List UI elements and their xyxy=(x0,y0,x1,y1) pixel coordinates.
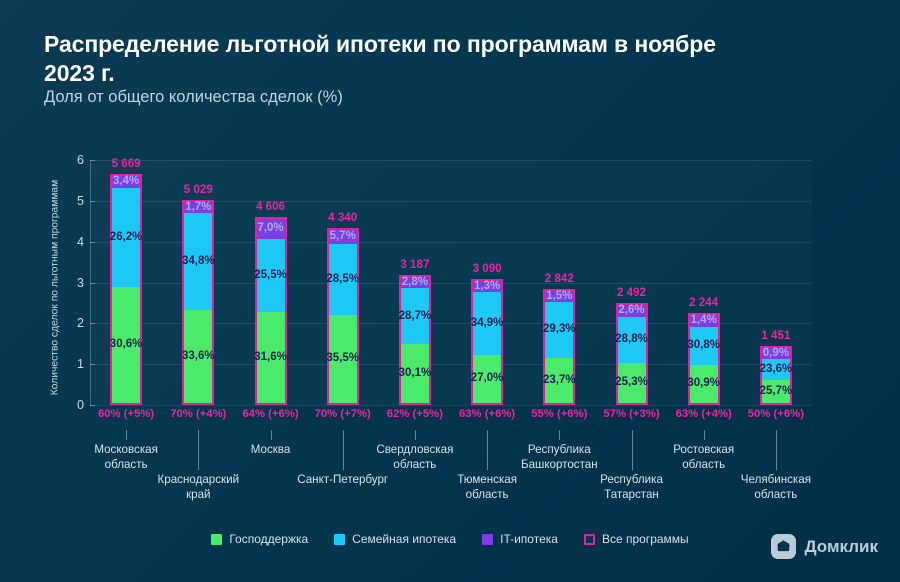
bar-segment-fam[interactable]: 34,8% xyxy=(184,213,212,310)
bar-segment-gos[interactable]: 30,6% xyxy=(112,287,140,403)
bar-total-label: 2 842 xyxy=(545,272,574,285)
bar-segment-label: 30,6% xyxy=(110,339,143,351)
bar-segment-it[interactable]: 1,7% xyxy=(184,202,212,214)
bar-segment-gos[interactable]: 27,0% xyxy=(473,355,501,403)
bar-segment-label: 30,9% xyxy=(687,378,720,390)
chart-legend: ГосподдержкаСемейная ипотекаIT-ипотекаВс… xyxy=(0,532,900,546)
bar-segment-it[interactable]: 2,8% xyxy=(401,277,429,289)
bar-segment-it[interactable]: 0,9% xyxy=(762,348,790,360)
bar-segment-label: 30,8% xyxy=(687,340,720,352)
bar-share-label: 63% (+4%) xyxy=(676,408,732,420)
bar-segment-gos[interactable]: 23,7% xyxy=(545,358,573,403)
chart-canvas: Распределение льготной ипотеки по програ… xyxy=(0,0,900,582)
bar-segment-label: 26,2% xyxy=(110,232,143,244)
x-axis-tick xyxy=(271,430,272,440)
bar-segment-it[interactable]: 5,7% xyxy=(329,230,357,244)
bar-segment-label: 28,7% xyxy=(399,311,432,323)
bar-segment-label: 2,6% xyxy=(618,305,644,317)
x-axis-region-label: Тюменская область xyxy=(427,473,547,503)
bar-total-label: 3 187 xyxy=(400,258,429,271)
x-axis-tick xyxy=(343,430,344,470)
x-axis-region-label: Московская область xyxy=(66,443,186,473)
bar-segment-it[interactable]: 7,0% xyxy=(257,219,285,239)
legend-item[interactable]: Господдержка xyxy=(211,532,308,546)
x-axis-tick xyxy=(415,430,416,440)
y-tick-label: 4 xyxy=(54,235,84,249)
x-axis-region-label: Челябинская область xyxy=(716,473,836,503)
x-axis-tick xyxy=(487,430,488,470)
x-axis-region-label: Краснодарский край xyxy=(138,473,258,503)
y-tick-label: 0 xyxy=(54,398,84,412)
bar-segment-label: 1,3% xyxy=(474,281,500,293)
bar-segment-label: 25,5% xyxy=(254,270,287,282)
bar-segment-fam[interactable]: 28,7% xyxy=(401,288,429,344)
bar-segment-gos[interactable]: 35,5% xyxy=(329,315,357,403)
bar-segment-label: 33,6% xyxy=(182,351,215,363)
bar-segment-label: 35,5% xyxy=(326,353,359,365)
bar-segment-label: 1,7% xyxy=(185,202,211,214)
y-axis-ticks: 0123456 xyxy=(52,160,84,405)
bar-segment-gos[interactable]: 30,1% xyxy=(401,344,429,403)
x-axis-tick xyxy=(632,430,633,470)
bar-share-label: 60% (+5%) xyxy=(98,408,154,420)
bar-total-label: 1 451 xyxy=(761,329,790,342)
bar-share-label: 55% (+6%) xyxy=(531,408,587,420)
gridline xyxy=(90,405,812,406)
bar-segment-fam[interactable]: 28,8% xyxy=(618,317,646,363)
bar-segment-label: 28,5% xyxy=(326,274,359,286)
x-axis-region-label: Республика Татарстан xyxy=(572,473,692,503)
bar-share-label: 63% (+6%) xyxy=(459,408,515,420)
bar-segment-label: 34,9% xyxy=(471,318,504,330)
bar-group[interactable]: 3,4%26,2%30,6%5 66960% (+5%) xyxy=(110,160,142,405)
bar-total-label: 4 606 xyxy=(256,200,285,213)
bar-segment-it[interactable]: 1,5% xyxy=(545,291,573,303)
bar-total-label: 2 492 xyxy=(617,286,646,299)
stacked-bar[interactable]: 1,4%30,8%30,9% xyxy=(688,313,720,405)
bar-segment-fam[interactable]: 29,3% xyxy=(545,302,573,358)
house-icon xyxy=(771,534,796,559)
bar-segment-label: 25,7% xyxy=(760,386,793,398)
bar-segment-gos[interactable]: 25,7% xyxy=(762,380,790,403)
bar-segment-label: 1,4% xyxy=(691,315,717,327)
brand-name: Домклик xyxy=(804,537,878,557)
legend-item[interactable]: Все программы xyxy=(584,532,689,546)
bar-total-label: 2 244 xyxy=(689,296,718,309)
bar-group[interactable]: 7,0%25,5%31,6%4 60664% (+6%) xyxy=(255,160,287,405)
bar-total-label: 3 090 xyxy=(473,262,502,275)
legend-label: Все программы xyxy=(602,532,689,546)
bar-segment-it[interactable]: 3,4% xyxy=(112,176,140,189)
stacked-bar[interactable]: 5,7%28,5%35,5% xyxy=(327,228,359,405)
y-tick-label: 5 xyxy=(54,194,84,208)
bar-segment-label: 7,0% xyxy=(257,223,283,235)
legend-swatch-icon xyxy=(211,534,222,545)
bar-share-label: 50% (+6%) xyxy=(748,408,804,420)
legend-swatch-icon xyxy=(334,534,345,545)
bar-segment-gos[interactable]: 31,6% xyxy=(257,312,285,403)
bar-segment-fam[interactable]: 34,9% xyxy=(473,292,501,354)
bar-segment-gos[interactable]: 33,6% xyxy=(184,310,212,403)
stacked-bar[interactable]: 0,9%23,6%25,7% xyxy=(760,346,792,405)
bar-segment-it[interactable]: 1,3% xyxy=(473,281,501,293)
bar-group[interactable]: 1,5%29,3%23,7%2 84255% (+6%) xyxy=(543,160,575,405)
bar-segment-label: 23,7% xyxy=(543,375,576,387)
stacked-bar[interactable]: 1,7%34,8%33,6% xyxy=(182,200,214,405)
bar-segment-label: 25,3% xyxy=(615,377,648,389)
bar-group[interactable]: 2,6%28,8%25,3%2 49257% (+3%) xyxy=(616,160,648,405)
page-title: Распределение льготной ипотеки по програ… xyxy=(44,30,764,87)
bar-segment-it[interactable]: 1,4% xyxy=(690,315,718,327)
x-axis-tick xyxy=(704,430,705,440)
bar-segment-label: 2,8% xyxy=(402,277,428,289)
x-axis-region-label: Москва xyxy=(211,443,331,458)
bar-segment-fam[interactable]: 28,5% xyxy=(329,244,357,315)
legend-label: IT-ипотека xyxy=(500,532,558,546)
bar-total-label: 5 029 xyxy=(184,183,213,196)
x-axis-tick xyxy=(198,430,199,470)
x-axis-tick xyxy=(559,430,560,440)
bar-segment-label: 34,8% xyxy=(182,256,215,268)
bar-share-label: 57% (+3%) xyxy=(603,408,659,420)
bar-group[interactable]: 1,7%34,8%33,6%5 02970% (+4%) xyxy=(182,160,214,405)
bar-segment-fam[interactable]: 23,6% xyxy=(762,359,790,380)
bar-group[interactable]: 5,7%28,5%35,5%4 34070% (+7%) xyxy=(327,160,359,405)
bar-segment-gos[interactable]: 30,9% xyxy=(690,365,718,403)
x-axis-tick xyxy=(776,430,777,470)
bar-group[interactable]: 2,8%28,7%30,1%3 18762% (+5%) xyxy=(399,160,431,405)
bar-share-label: 70% (+7%) xyxy=(315,408,371,420)
bar-segment-label: 1,5% xyxy=(546,291,572,303)
bar-segment-fam[interactable]: 25,5% xyxy=(257,239,285,312)
legend-label: Господдержка xyxy=(229,532,308,546)
bar-segment-it[interactable]: 2,6% xyxy=(618,305,646,317)
bar-segment-label: 27,0% xyxy=(471,373,504,385)
bar-segment-label: 5,7% xyxy=(330,231,356,243)
bar-segment-gos[interactable]: 25,3% xyxy=(618,363,646,403)
bar-segment-label: 30,1% xyxy=(399,368,432,380)
stacked-bar[interactable]: 1,5%29,3%23,7% xyxy=(543,289,575,405)
bar-segment-label: 0,9% xyxy=(763,348,789,360)
page-subtitle: Доля от общего количества сделок (%) xyxy=(44,88,343,107)
legend-item[interactable]: Семейная ипотека xyxy=(334,532,456,546)
bar-share-label: 64% (+6%) xyxy=(242,408,298,420)
y-tick-label: 3 xyxy=(54,276,84,290)
bar-segment-label: 3,4% xyxy=(113,176,139,188)
bar-share-label: 70% (+4%) xyxy=(170,408,226,420)
x-axis-region-label: Республика Башкортостан xyxy=(499,443,619,473)
bar-segment-label: 31,6% xyxy=(254,352,287,364)
legend-swatch-icon xyxy=(482,534,493,545)
brand-logo: Домклик xyxy=(771,534,878,559)
bar-segment-fam[interactable]: 26,2% xyxy=(112,188,140,287)
bar-share-label: 62% (+5%) xyxy=(387,408,443,420)
plot-area: 3,4%26,2%30,6%5 66960% (+5%)1,7%34,8%33,… xyxy=(90,160,812,405)
x-axis-region-label: Санкт-Петербург xyxy=(283,473,403,488)
stacked-bar[interactable]: 1,3%34,9%27,0% xyxy=(471,279,503,405)
legend-label: Семейная ипотека xyxy=(352,532,456,546)
x-axis-region-label: Свердловская область xyxy=(355,443,475,473)
y-tick-label: 2 xyxy=(54,316,84,330)
x-axis-region-label: Ростовская область xyxy=(644,443,764,473)
bar-segment-fam[interactable]: 30,8% xyxy=(690,327,718,365)
bar-segment-label: 28,8% xyxy=(615,334,648,346)
bar-group[interactable]: 1,3%34,9%27,0%3 09063% (+6%) xyxy=(471,160,503,405)
y-tick-label: 1 xyxy=(54,357,84,371)
legend-item[interactable]: IT-ипотека xyxy=(482,532,558,546)
stacked-bar[interactable]: 2,6%28,8%25,3% xyxy=(616,303,648,405)
bar-group[interactable]: 0,9%23,6%25,7%1 45150% (+6%) xyxy=(760,160,792,405)
legend-swatch-icon xyxy=(584,534,595,545)
bar-total-label: 5 669 xyxy=(112,157,141,170)
bar-segment-label: 29,3% xyxy=(543,324,576,336)
bar-group[interactable]: 1,4%30,8%30,9%2 24463% (+4%) xyxy=(688,160,720,405)
y-tick-label: 6 xyxy=(54,153,84,167)
stacked-bar[interactable]: 3,4%26,2%30,6% xyxy=(110,174,142,405)
x-axis-tick xyxy=(126,430,127,440)
bar-total-label: 4 340 xyxy=(328,211,357,224)
stacked-bar[interactable]: 7,0%25,5%31,6% xyxy=(255,217,287,405)
bar-segment-label: 23,6% xyxy=(760,364,793,376)
stacked-bar[interactable]: 2,8%28,7%30,1% xyxy=(399,275,431,405)
